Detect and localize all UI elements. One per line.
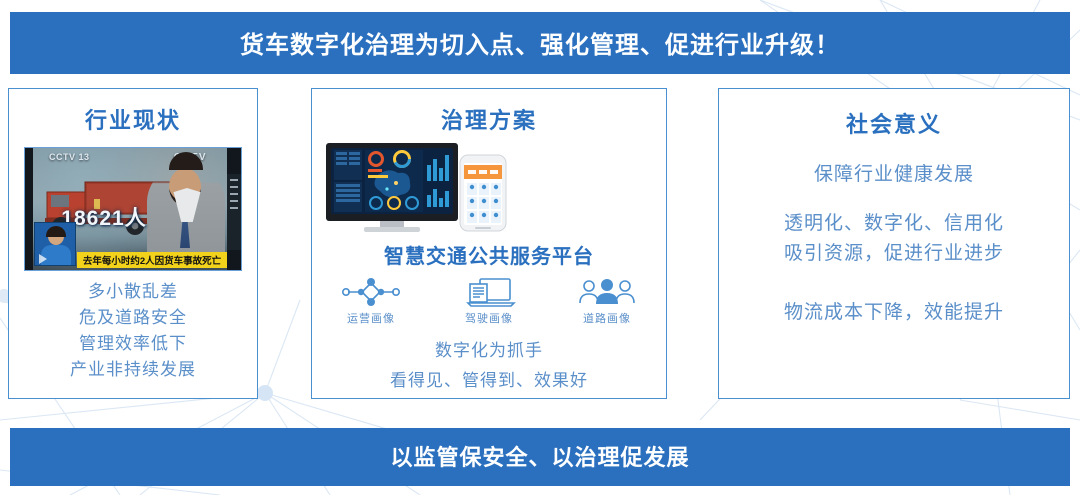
- top-banner: 货车数字化治理为切入点、强化管理、促进行业升级！: [10, 12, 1070, 74]
- capability-operations-label: 运营画像: [323, 310, 419, 326]
- card-1-line-4: 产业非持续发展: [9, 361, 257, 378]
- card-2-line-1: 数字化为抓手: [312, 342, 666, 359]
- bottom-banner-text: 以监管保安全、以治理促发展: [390, 440, 689, 472]
- capability-driving-label: 驾驶画像: [441, 310, 537, 326]
- capability-operations: 运营画像: [323, 275, 419, 326]
- network-node-left: [257, 385, 273, 401]
- card-1-lines: 多小散乱差 危及道路安全 管理效率低下 产业非持续发展: [9, 283, 257, 378]
- capability-icon-row: 运营画像 驾驶画像: [312, 275, 666, 326]
- card-1-line-3: 管理效率低下: [9, 335, 257, 352]
- capability-road: 道路画像: [559, 275, 655, 326]
- card-2-line-2: 看得见、管得到、效果好: [312, 372, 666, 389]
- card-3-line-2: 透明化、数字化、信用化: [719, 214, 1069, 233]
- card-1-title: 行业现状: [9, 103, 257, 135]
- card-3-group-1: 保障行业健康发展: [719, 165, 1069, 184]
- card-1-line-2: 危及道路安全: [9, 309, 257, 326]
- news-screenshot-image: CCTV 13 CNTV 18621人 去年每小时约2人因货车事故死亡: [24, 147, 242, 271]
- capability-road-label: 道路画像: [559, 310, 655, 326]
- video-tools-sidebar: [227, 174, 241, 250]
- cctv-channel-logo: CCTV 13: [49, 152, 90, 162]
- card-3-line-1: 保障行业健康发展: [719, 165, 1069, 184]
- card-social-significance: 社会意义 保障行业健康发展 透明化、数字化、信用化 吸引资源，促进行业进步 物流…: [718, 88, 1070, 399]
- capability-driving: 驾驶画像: [441, 275, 537, 326]
- card-industry-status: 行业现状 CCTV 13 CNTV 18621人: [8, 88, 258, 399]
- people-group-icon: [559, 275, 655, 309]
- card-1-line-1: 多小散乱差: [9, 283, 257, 300]
- top-banner-text: 货车数字化治理为切入点、强化管理、促进行业升级！: [240, 25, 840, 60]
- news-caption-bar: 去年每小时约2人因货车事故死亡: [77, 252, 227, 268]
- card-governance-plan: 治理方案: [311, 88, 667, 399]
- card-3-group-3: 物流成本下降，效能提升: [719, 303, 1069, 322]
- platform-title: 智慧交通公共服务平台: [312, 240, 666, 269]
- card-3-line-4: 物流成本下降，效能提升: [719, 303, 1069, 322]
- card-3-group-2: 透明化、数字化、信用化 吸引资源，促进行业进步: [719, 214, 1069, 263]
- card-3-line-3: 吸引资源，促进行业进步: [719, 244, 1069, 263]
- network-nodes-icon: [323, 275, 419, 309]
- bottom-banner: 以监管保安全、以治理促发展: [10, 428, 1070, 486]
- card-3-title: 社会意义: [719, 107, 1069, 139]
- slide-canvas: 货车数字化治理为切入点、强化管理、促进行业升级！ 行业现状 CCTV 13 CN…: [0, 0, 1080, 495]
- card-2-title: 治理方案: [312, 103, 666, 135]
- play-icon[interactable]: [39, 254, 47, 264]
- laptop-document-icon: [441, 275, 537, 309]
- monitor-and-phone-illustration: [312, 141, 522, 233]
- card-2-lines: 数字化为抓手 看得见、管得到、效果好: [312, 342, 666, 389]
